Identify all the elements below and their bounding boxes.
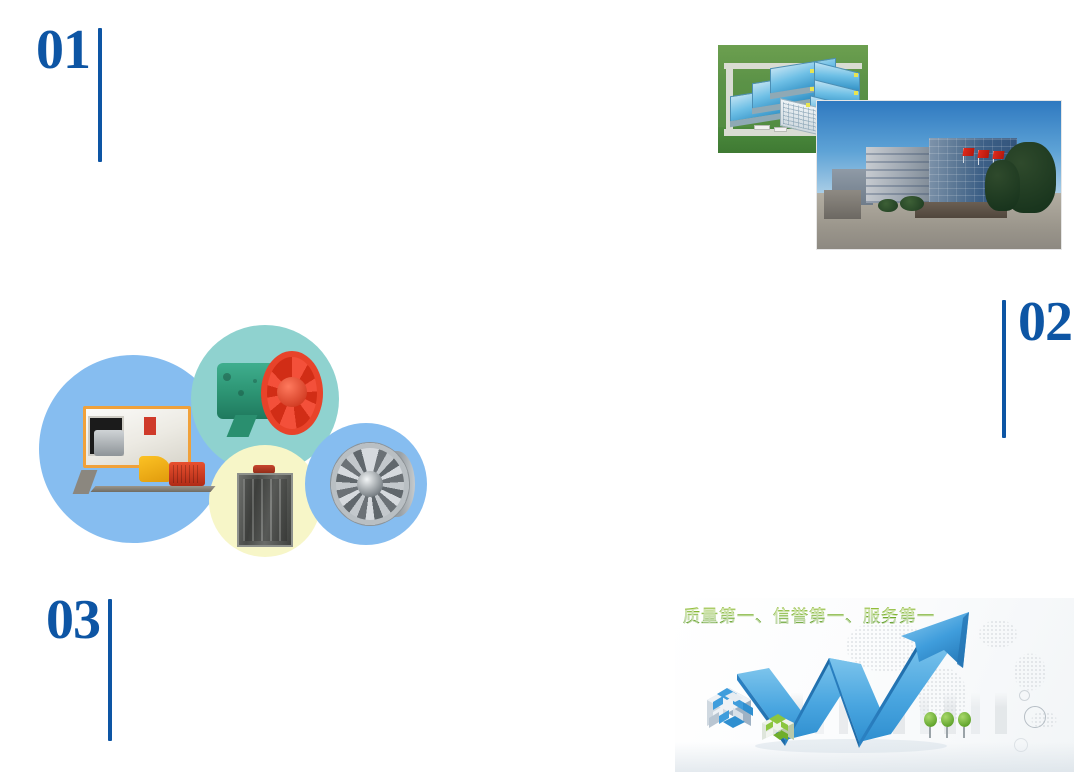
growth-chart-banner: 质量第一、信誉第一、服务第一 [675, 598, 1074, 772]
cabinet-centrifugal-fan [65, 400, 225, 510]
banner-slogan-text: 质量第一、信誉第一、服务第一 [683, 602, 935, 627]
shrub [878, 199, 898, 212]
tree [940, 712, 955, 738]
company-building-photo [816, 100, 1062, 250]
belt-guard [139, 456, 171, 482]
shrub [900, 196, 924, 211]
fan-wheel [94, 430, 124, 456]
plan-marker-dot [810, 87, 814, 91]
tree-trunk [963, 727, 965, 738]
control-panel [144, 417, 156, 435]
section-number-02: 02 [1018, 296, 1072, 349]
tree [923, 712, 938, 738]
bubble-circle [1019, 690, 1030, 701]
page-root: 01 [0, 0, 1074, 772]
section-marker-03: 03 [46, 594, 112, 741]
ventilation-product-cluster [35, 325, 425, 555]
impeller-hub [357, 471, 383, 497]
gatehouse [824, 190, 861, 220]
tree-crown [924, 712, 937, 727]
tree-trunk [929, 727, 931, 738]
plan-marker-dot [854, 91, 858, 95]
red-flag [992, 151, 1004, 159]
section-number-01: 01 [36, 24, 90, 77]
bubble-circle [1024, 706, 1046, 728]
air-damper-filter-box [233, 465, 297, 551]
evergreen-tree [985, 160, 1019, 210]
tree [957, 712, 972, 738]
section-number-03: 03 [46, 594, 100, 647]
tree-crown [958, 712, 971, 727]
tree-trunk [946, 727, 948, 738]
plan-truck [774, 127, 787, 132]
section-rule-03 [108, 599, 112, 741]
section-marker-02: 02 [1002, 296, 1072, 438]
section-marker-01: 01 [36, 24, 102, 162]
red-flag [977, 150, 989, 158]
plan-marker-dot [810, 69, 814, 73]
plan-marker-dot [806, 103, 810, 107]
tree-crown [941, 712, 954, 727]
side-building [866, 147, 932, 203]
electric-motor [169, 462, 205, 486]
plan-marker-dot [854, 73, 858, 77]
impeller-hub [277, 377, 307, 407]
axial-flow-fan [217, 349, 325, 449]
section-rule-02 [1002, 300, 1006, 438]
tree-group [923, 708, 975, 738]
fan-cabinet-body [83, 406, 191, 468]
damper-frame [237, 473, 293, 547]
metal-impeller-fan [323, 443, 415, 529]
section-rule-01 [98, 28, 102, 162]
fan-base-rail [90, 486, 215, 492]
plan-truck [754, 125, 770, 130]
fan-inlet-opening [88, 416, 124, 456]
floor-reflection [675, 742, 1074, 772]
red-flag [963, 148, 975, 156]
